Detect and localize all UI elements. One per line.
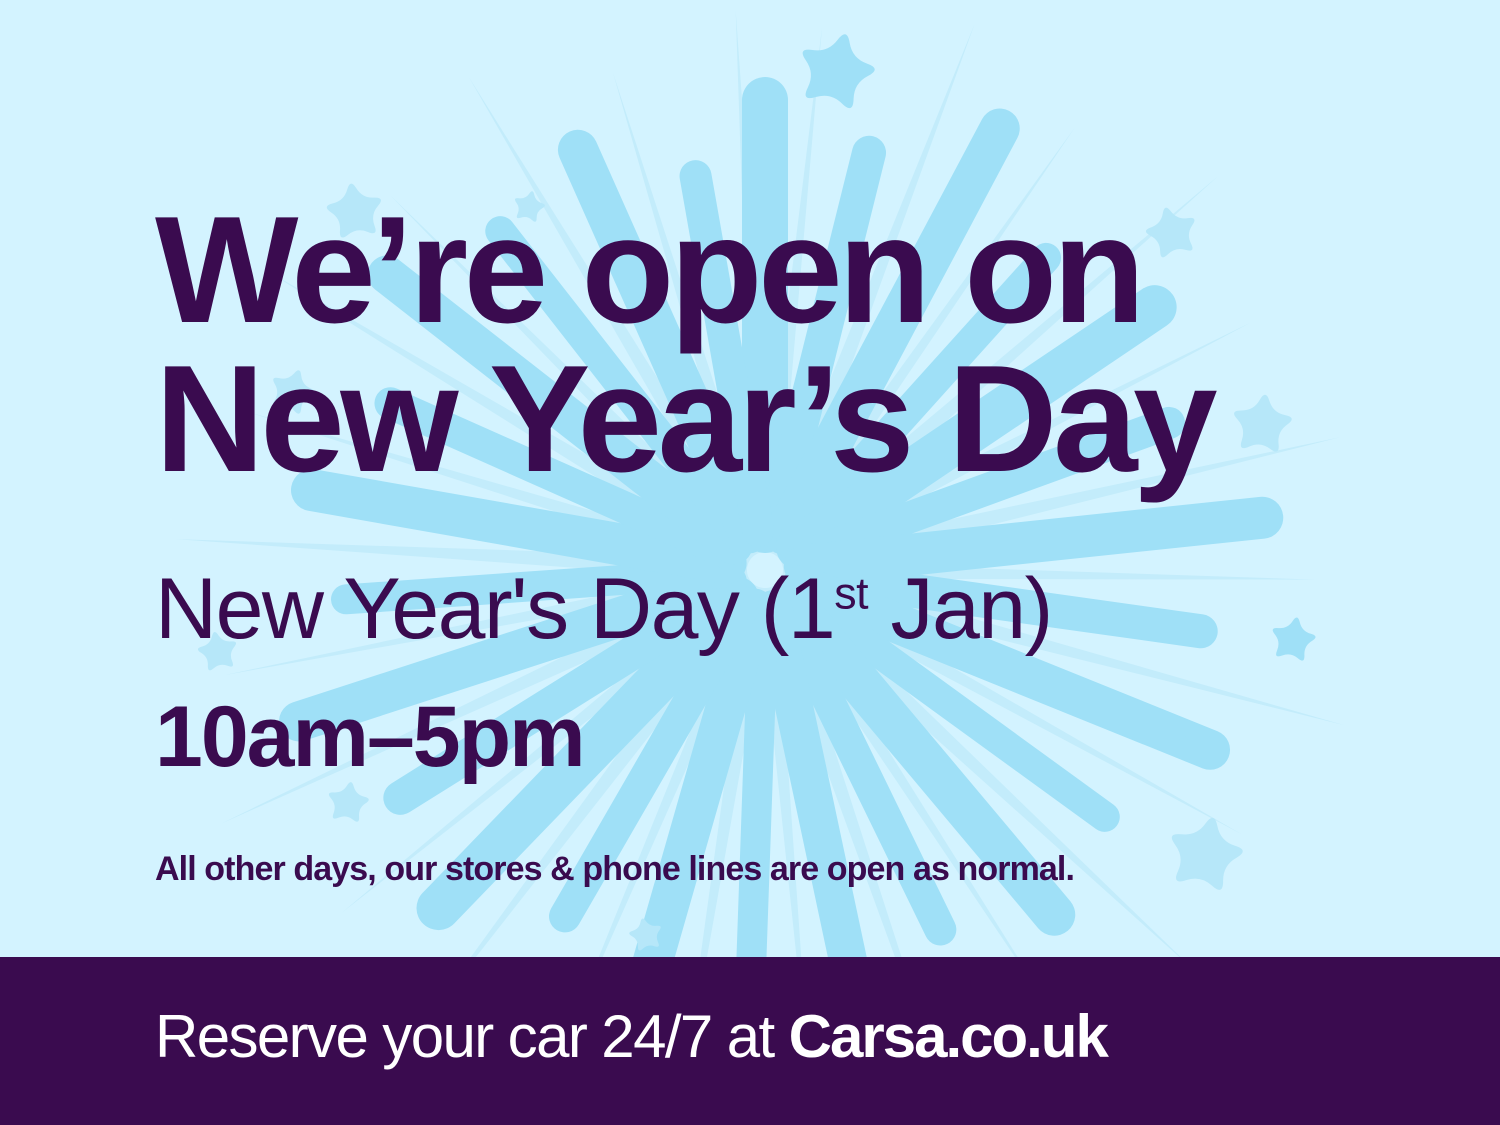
- fineprint-note: All other days, our stores & phone lines…: [155, 852, 1074, 886]
- schedule-day-prefix: New Year's Day (1: [155, 561, 834, 657]
- schedule-hours: 10am–5pm: [155, 694, 584, 780]
- schedule-day-ordinal-suffix: st: [834, 569, 868, 618]
- schedule-day-suffix: Jan): [868, 561, 1052, 657]
- brand-url[interactable]: Carsa.co.uk: [789, 1003, 1107, 1070]
- page-title: We’re open on New Year’s Day: [155, 196, 1425, 494]
- promo-banner: We’re open on New Year’s Day New Year's …: [0, 0, 1500, 1125]
- footer-cta-prefix: Reserve your car 24/7 at: [155, 1003, 789, 1070]
- footer-cta: Reserve your car 24/7 at Carsa.co.uk: [155, 1007, 1107, 1067]
- banner-content: We’re open on New Year’s Day New Year's …: [0, 0, 1500, 957]
- footer-bar: Reserve your car 24/7 at Carsa.co.uk: [0, 957, 1500, 1125]
- schedule-day-label: New Year's Day (1st Jan): [155, 566, 1052, 652]
